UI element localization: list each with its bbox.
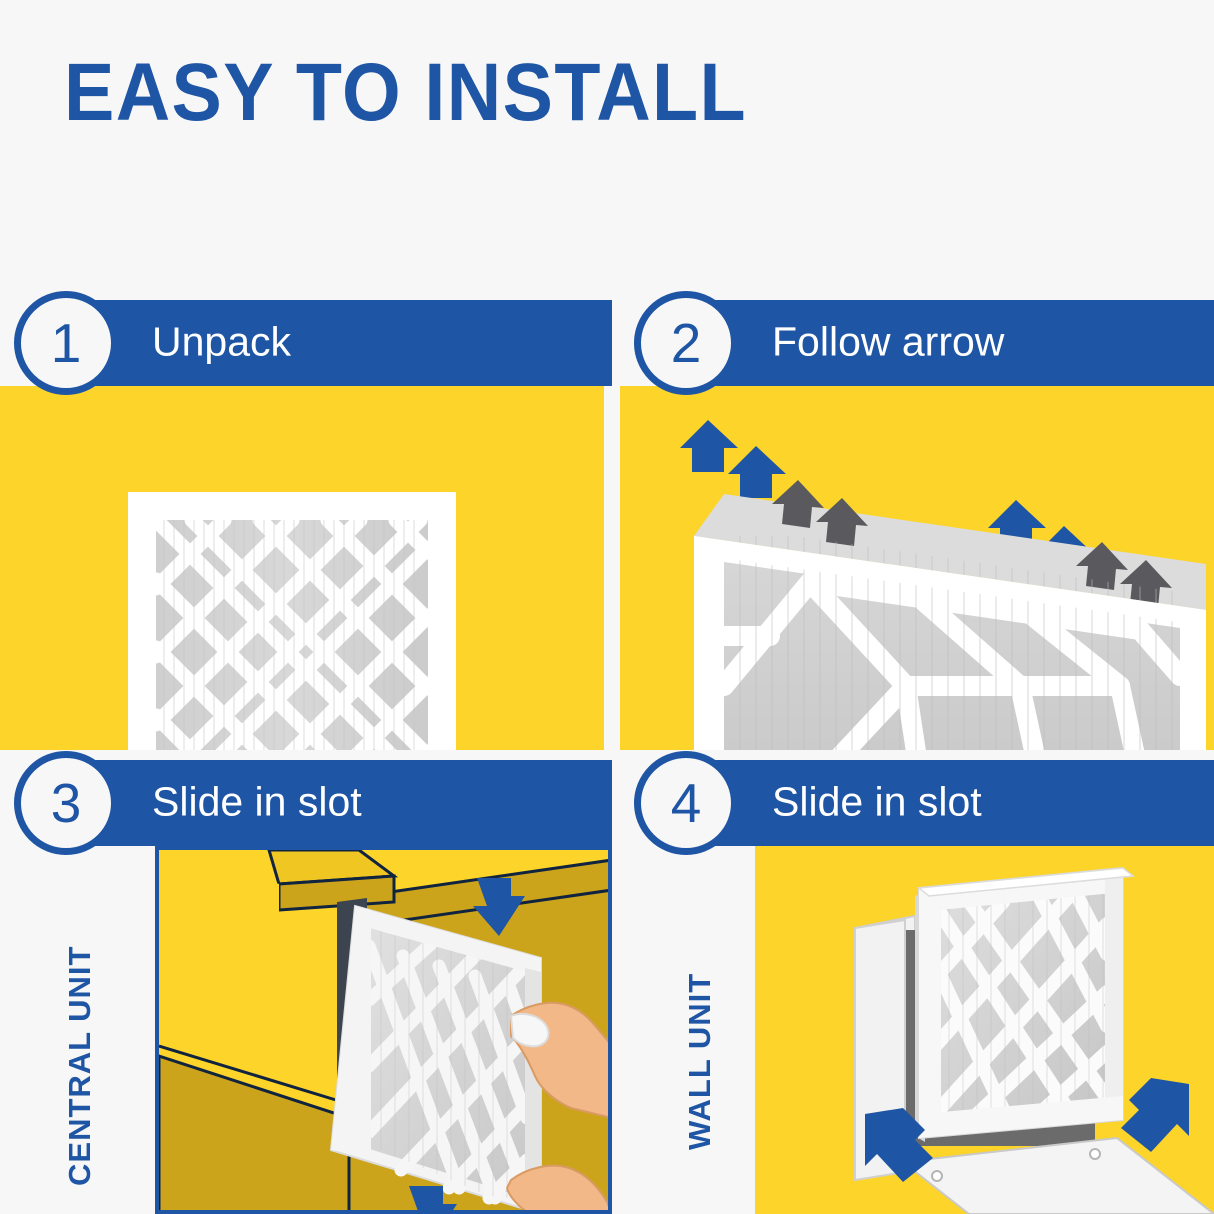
step-3-illustration-stage: [155, 846, 612, 1214]
step-panel-4: 4 Slide in slot WALL UNIT: [620, 760, 1214, 1214]
step-1-number: 1: [21, 298, 111, 388]
central-unit-insert-illustration: [159, 850, 612, 1214]
door-screw-right: [1090, 1149, 1100, 1159]
flat-air-filter-illustration: [0, 386, 604, 750]
step-4-label: Slide in slot: [772, 779, 982, 826]
step-3-label: Slide in slot: [152, 779, 362, 826]
step-2-number: 2: [641, 298, 731, 388]
step-4-number: 4: [641, 758, 731, 848]
step-panel-3: 3 Slide in slot CENTRAL UNIT: [0, 760, 612, 1214]
airflow-arrow-blue-left: [680, 420, 786, 498]
step-4-illustration-stage: [755, 846, 1214, 1214]
step-3-number: 3: [21, 758, 111, 848]
step-2-badge: 2: [634, 291, 738, 395]
step-4-badge: 4: [634, 751, 738, 855]
tilted-filter-airflow-illustration: [620, 386, 1214, 750]
step-3-side-label: CENTRAL UNIT: [62, 856, 84, 1186]
air-filter-inserting: [915, 868, 1133, 1142]
step-panel-2: 2 Follow arrow: [620, 300, 1214, 750]
wall-unit-insert-illustration: [755, 846, 1214, 1214]
infographic-root: EASY TO INSTALL 1 Unpack: [0, 0, 1214, 1214]
step-3-badge: 3: [14, 751, 118, 855]
step-1-illustration-stage: [0, 386, 604, 750]
step-1-header-bar: [52, 300, 612, 386]
door-screw-left: [932, 1171, 942, 1181]
left-wall: [159, 850, 279, 1078]
step-panel-1: 1 Unpack: [0, 300, 612, 750]
step-2-label: Follow arrow: [772, 319, 1004, 366]
step-1-label: Unpack: [152, 319, 291, 366]
step-2-illustration-stage: [620, 386, 1214, 750]
step-4-side-label: WALL UNIT: [682, 900, 704, 1150]
page-title: EASY TO INSTALL: [64, 52, 747, 134]
step-1-badge: 1: [14, 291, 118, 395]
